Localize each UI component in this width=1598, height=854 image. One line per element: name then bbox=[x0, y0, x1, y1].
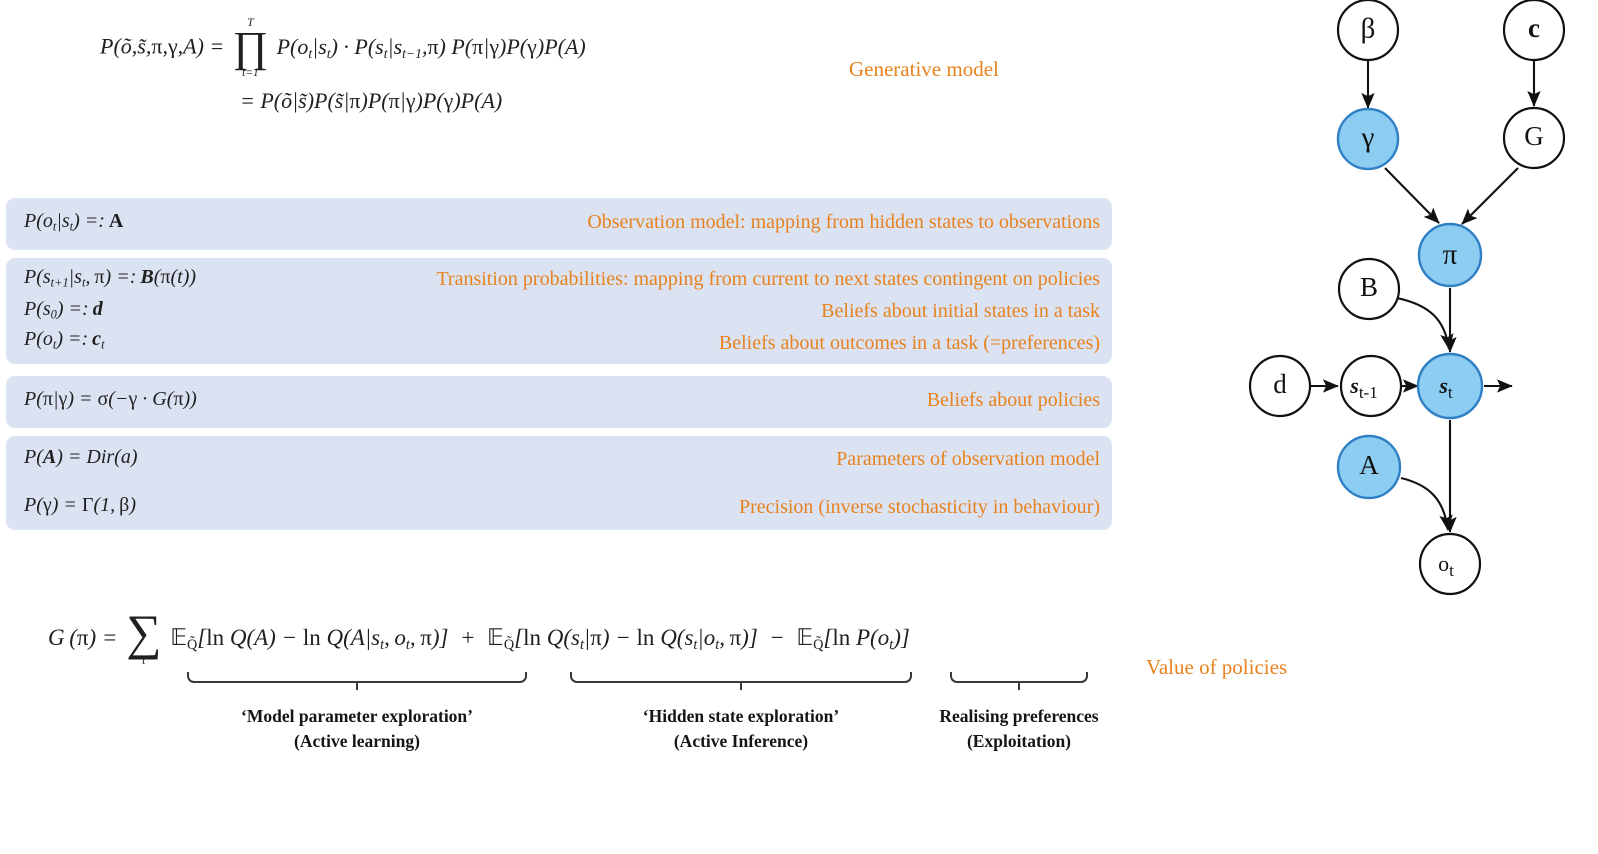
panel-policy-beliefs: P(π|γ) = σ(−γ · G(π)) Beliefs about poli… bbox=[6, 376, 1112, 428]
generative-model-label: Generative model bbox=[849, 57, 999, 82]
panel-parameters: P(A) = Dir(a) P(γ) = Γ(1, β) Parameters … bbox=[6, 436, 1112, 530]
node-beta[interactable]: β bbox=[1338, 0, 1398, 60]
eq-value-term-3: 𝔼Q̃[ln P(ot)] bbox=[796, 625, 909, 650]
node-gamma-label: γ bbox=[1361, 122, 1375, 154]
node-o-t[interactable]: ot bbox=[1420, 534, 1480, 594]
node-d-label: d bbox=[1273, 369, 1287, 399]
node-A-label: A bbox=[1359, 450, 1379, 480]
annotation-policy-beliefs: Beliefs about policies bbox=[927, 389, 1100, 412]
summation-subscript: t bbox=[142, 655, 145, 667]
edge-B-to-st bbox=[1397, 298, 1449, 349]
node-pi-label: π bbox=[1443, 239, 1458, 271]
node-gamma[interactable]: γ bbox=[1338, 109, 1398, 169]
equation-precision: P(γ) = Γ(1, β) bbox=[24, 494, 136, 517]
brace-label-model-parameter-exploration: ‘Model parameter exploration’ (Active le… bbox=[241, 704, 473, 755]
annotation-precision: Precision (inverse stochasticity in beha… bbox=[739, 496, 1100, 519]
node-beta-label: β bbox=[1361, 13, 1376, 45]
brace-label-hidden-state-exploration: ‘Hidden state exploration’ (Active Infer… bbox=[643, 704, 839, 755]
underbrace-hidden-state-exploration bbox=[570, 672, 912, 683]
graphical-model-diagram: β c γ G π B d st-1 bbox=[1230, 0, 1598, 610]
eq-value-lhs: G (π) = bbox=[48, 625, 117, 650]
underbrace-model-parameter-exploration bbox=[187, 672, 527, 683]
node-s-t[interactable]: st bbox=[1418, 354, 1482, 418]
eq-lhs: P(õ,s̃,π,γ,A) = bbox=[100, 34, 224, 59]
node-B-label: B bbox=[1360, 272, 1378, 302]
generative-model-equation-line-2: = P(õ|s̃)P(s̃|π)P(π|γ)P(γ)P(A) bbox=[240, 88, 502, 113]
product-lower-limit: t=1 bbox=[242, 68, 259, 79]
equation-observation-parameters: P(A) = Dir(a) bbox=[24, 446, 138, 469]
brace-label-1-line-1: ‘Model parameter exploration’ bbox=[241, 704, 473, 729]
edge-gamma-to-pi bbox=[1385, 168, 1439, 223]
value-of-policies-label: Value of policies bbox=[1146, 655, 1287, 680]
eq-value-minus: − bbox=[764, 625, 791, 650]
brace-label-3-line-2: (Exploitation) bbox=[939, 729, 1098, 754]
equation-policy-beliefs: P(π|γ) = σ(−γ · G(π)) bbox=[24, 388, 197, 411]
annotation-transition: Transition probabilities: mapping from c… bbox=[436, 268, 1100, 291]
annotation-preferences: Beliefs about outcomes in a task (=prefe… bbox=[719, 332, 1100, 355]
panel-transition-model: P(st+1|st, π) =: B(π(t)) P(s0) =: d P(ot… bbox=[6, 258, 1112, 364]
product-operator: T ∏ t=1 bbox=[233, 18, 268, 79]
annotation-observation-parameters: Parameters of observation model bbox=[836, 448, 1100, 471]
node-c-label: c bbox=[1528, 13, 1540, 43]
eq-value-term-2: 𝔼Q̃[ln Q(st|π) − ln Q(st|ot, π)] bbox=[487, 625, 758, 650]
product-glyph: ∏ bbox=[233, 30, 268, 66]
brace-label-3-line-1: Realising preferences bbox=[939, 704, 1098, 729]
generative-model-equation-line-1: P(õ,s̃,π,γ,A) = T ∏ t=1 P(ot|st) · P(st|… bbox=[100, 18, 586, 79]
sigma-glyph: ∑ bbox=[126, 612, 161, 654]
brace-label-2-line-1: ‘Hidden state exploration’ bbox=[643, 704, 839, 729]
eq-value-term-1: 𝔼Q̃[ln Q(A) − ln Q(A|st, ot, π)] bbox=[170, 625, 448, 650]
eq-rhs: P(ot|st) · P(st|st−1,π) P(π|γ)P(γ)P(A) bbox=[277, 34, 586, 59]
node-G[interactable]: G bbox=[1504, 108, 1564, 168]
node-pi[interactable]: π bbox=[1419, 224, 1481, 286]
equation-preferences: P(ot) =: ct bbox=[24, 328, 105, 352]
edge-A-to-ot bbox=[1401, 478, 1448, 530]
value-of-policies-equation: G (π) = ∑ t 𝔼Q̃[ln Q(A) − ln Q(A|st, ot,… bbox=[48, 612, 910, 667]
node-G-label: G bbox=[1524, 121, 1544, 151]
brace-label-realising-preferences: Realising preferences (Exploitation) bbox=[939, 704, 1098, 755]
panel-observation-model: P(ot|st) =: A Observation model: mapping… bbox=[6, 198, 1112, 250]
underbrace-realising-preferences bbox=[950, 672, 1088, 683]
node-s-prev[interactable]: st-1 bbox=[1341, 356, 1401, 416]
equation-transition: P(st+1|st, π) =: B(π(t)) bbox=[24, 266, 196, 290]
annotation-observation: Observation model: mapping from hidden s… bbox=[587, 211, 1100, 234]
edge-G-to-pi bbox=[1462, 168, 1518, 224]
equation-observation: P(ot|st) =: A bbox=[24, 210, 123, 234]
brace-label-2-line-2: (Active Inference) bbox=[643, 729, 839, 754]
node-c[interactable]: c bbox=[1504, 0, 1564, 60]
node-d[interactable]: d bbox=[1250, 356, 1310, 416]
node-B[interactable]: B bbox=[1339, 259, 1399, 319]
brace-label-1-line-2: (Active learning) bbox=[241, 729, 473, 754]
node-A[interactable]: A bbox=[1338, 436, 1400, 498]
eq-value-plus: + bbox=[454, 625, 481, 650]
annotation-initial-state: Beliefs about initial states in a task bbox=[821, 300, 1100, 323]
equation-initial-state: P(s0) =: d bbox=[24, 298, 103, 322]
summation-operator: ∑ t bbox=[126, 612, 161, 667]
